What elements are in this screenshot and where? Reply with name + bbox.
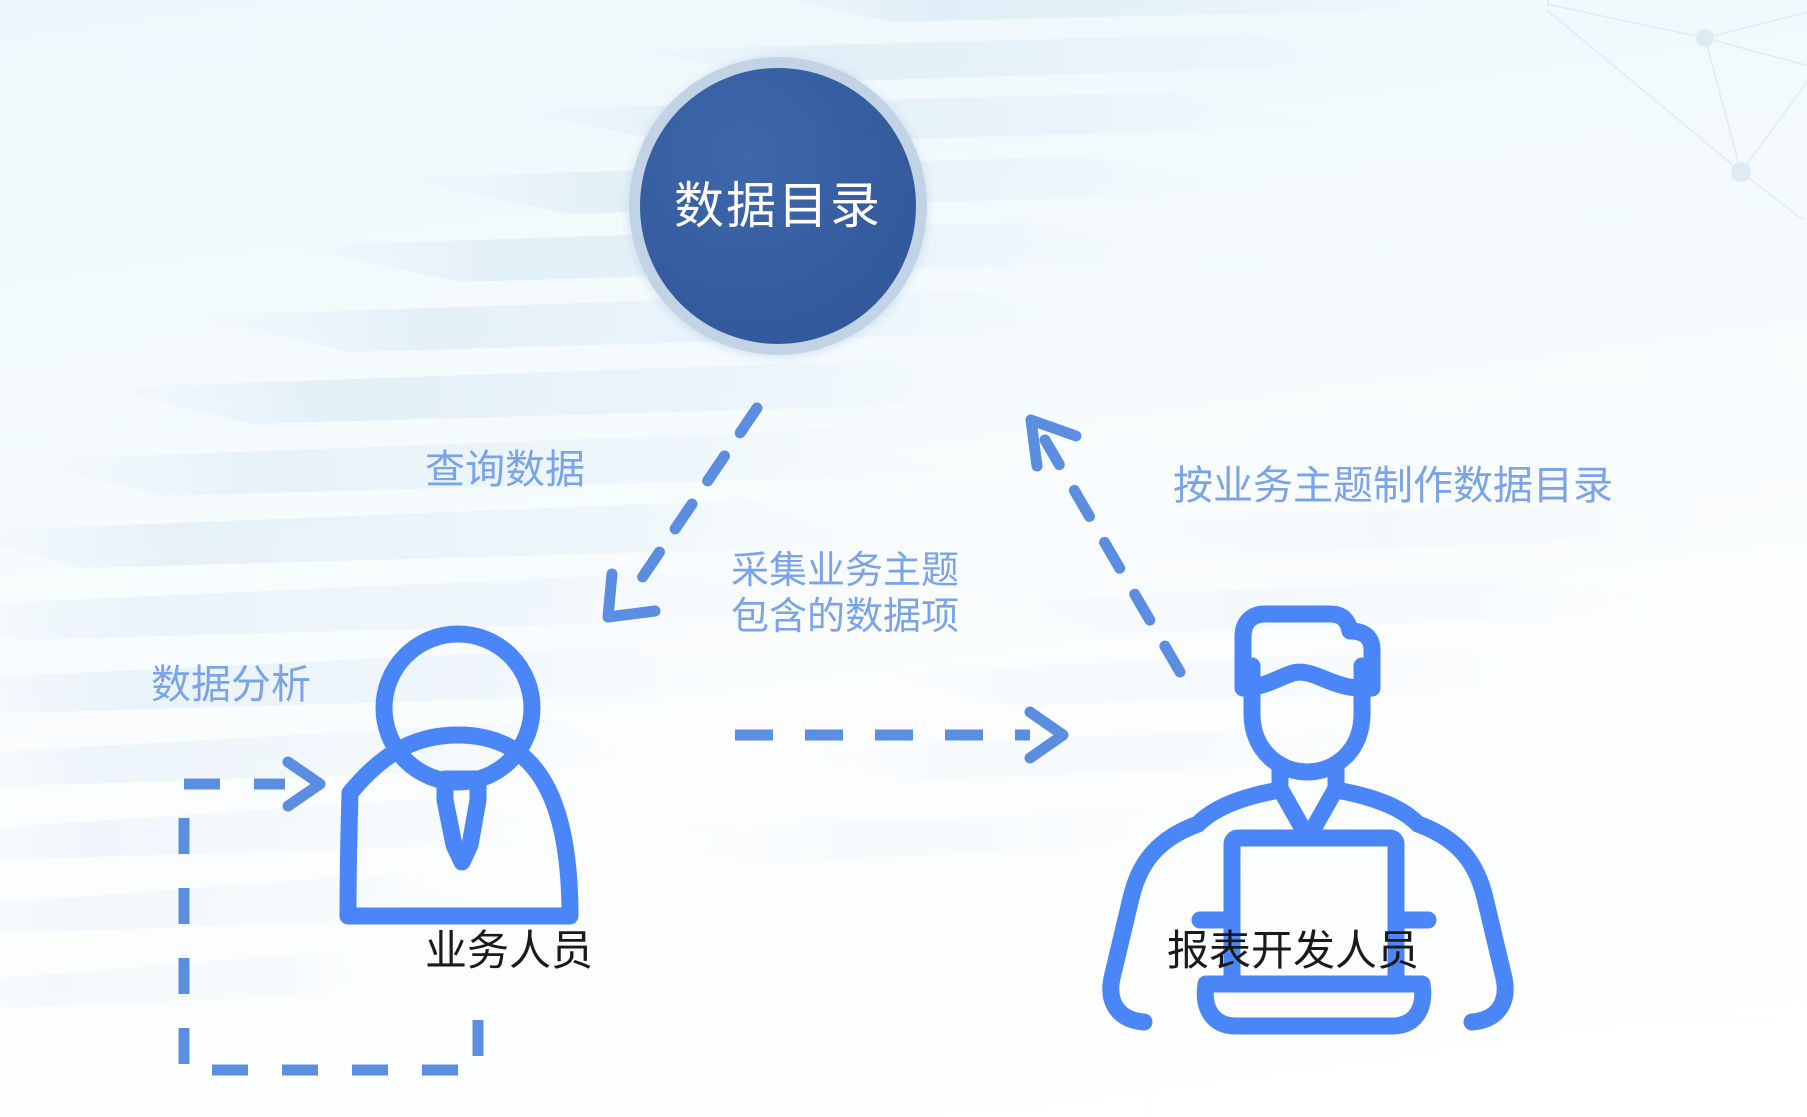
edge-label-build-catalog: 按业务主题制作数据目录 bbox=[1173, 462, 1613, 511]
actor-label-report-developer: 报表开发人员 bbox=[1167, 925, 1419, 976]
edge-label-collect-line2: 包含的数据项 bbox=[731, 594, 959, 640]
diagram-canvas: 数据目录 bbox=[0, 0, 1807, 1117]
person-with-tie-icon[interactable] bbox=[348, 634, 570, 916]
actor-label-business-user: 业务人员 bbox=[425, 925, 593, 976]
edge-label-collect-line1: 采集业务主题 bbox=[731, 548, 959, 594]
arrowhead-down-left-icon bbox=[608, 574, 655, 617]
edge-build-catalog[interactable] bbox=[1031, 420, 1180, 672]
arrowhead-right-icon bbox=[288, 762, 320, 806]
edge-label-data-analysis: 数据分析 bbox=[151, 661, 311, 710]
arrowhead-right-icon bbox=[1030, 712, 1063, 758]
edge-label-collect-data-items: 采集业务主题 包含的数据项 bbox=[731, 548, 959, 641]
edge-label-query-data: 查询数据 bbox=[425, 446, 585, 495]
edge-collect-data-items[interactable] bbox=[735, 712, 1063, 758]
